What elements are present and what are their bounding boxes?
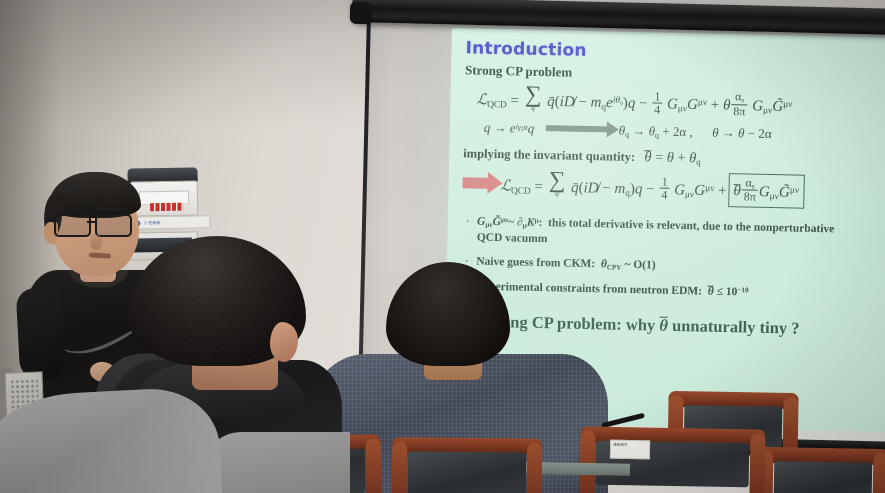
attendee-grey-shoulder — [200, 432, 350, 493]
chair-post-right — [872, 453, 885, 493]
foreground-attendee-grey-shirt — [0, 386, 223, 493]
glasses-bridge — [87, 221, 97, 223]
chair-post-right — [749, 433, 765, 493]
presenter-mouth — [89, 252, 111, 258]
boxed-theta-term: θαs8πGμνG̃μν — [728, 173, 804, 209]
bullet-dot-icon: · — [465, 214, 469, 246]
glasses-lens-right — [95, 214, 132, 237]
equation-chiral-rotation: q → eiγ5αq θq → θq + 2α , θ → θ − 2α — [484, 120, 885, 146]
list-item: · GμνG̃μν~ ∂μKμ: this total derivative i… — [465, 214, 885, 255]
chair — [579, 426, 765, 493]
eyeglasses-icon — [51, 214, 139, 234]
chair-backrest-pad — [774, 461, 873, 493]
equation-lagrangian-1: ℒQCD = ∑q q̄(iD̸ − mqeiθq)q − 14 GμνGμν … — [476, 85, 885, 122]
equation-lagrangian-2: ℒQCD = ∑q q̄(iD̸ − mq)q − 14 GμνGμν +θαs… — [462, 167, 885, 211]
attendee-ear — [270, 322, 298, 362]
chair — [392, 437, 543, 493]
chair-number-label: 课桌编号 — [610, 440, 650, 460]
presenter-nose — [90, 234, 102, 250]
long-arrow-icon — [545, 125, 607, 132]
chair-backrest-pad — [408, 451, 526, 493]
projector-roller-cap — [350, 2, 373, 25]
chair-post-left — [579, 430, 595, 493]
chair-post-right — [366, 438, 382, 493]
chair — [757, 447, 885, 493]
attendee-hair — [386, 262, 510, 366]
chair-post-right — [527, 443, 543, 493]
presenter-left-sleeve — [16, 287, 65, 381]
red-arrow-icon — [463, 177, 489, 189]
glasses-lens-left — [54, 214, 91, 237]
chair-post-left — [392, 441, 408, 493]
lecture-room-scene: Introduction Strong CP problem ℒQCD = ∑q… — [0, 0, 885, 493]
